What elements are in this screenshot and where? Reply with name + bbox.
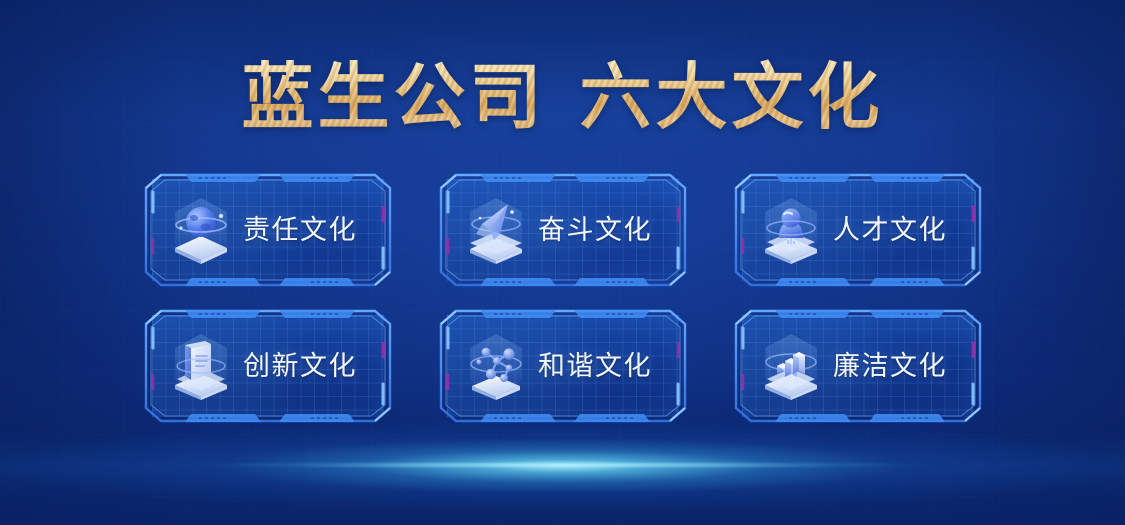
- culture-card[interactable]: 奋斗文化: [438, 172, 688, 288]
- page-title: 蓝生公司六大文化: [0, 52, 1125, 148]
- responsibility-culture-icon: [165, 194, 237, 266]
- culture-card[interactable]: 人才文化: [733, 172, 983, 288]
- integrity-culture-icon: [755, 330, 827, 402]
- culture-card-label: 创新文化: [243, 349, 357, 383]
- culture-card[interactable]: 和谐文化: [438, 308, 688, 424]
- floor-light-core: [183, 462, 943, 469]
- culture-card[interactable]: 创新文化: [143, 308, 393, 424]
- title-part-2: 六大文化: [580, 58, 884, 138]
- culture-card-label: 奋斗文化: [538, 213, 652, 247]
- harmony-culture-icon: [460, 330, 532, 402]
- culture-card-label: 廉洁文化: [833, 349, 947, 383]
- talent-culture-icon: [755, 194, 827, 266]
- culture-card[interactable]: 廉洁文化: [733, 308, 983, 424]
- innovation-culture-icon: [165, 330, 237, 402]
- culture-card-label: 人才文化: [833, 213, 947, 247]
- title-text: 蓝生公司六大文化: [241, 52, 883, 144]
- culture-card-label: 和谐文化: [538, 349, 652, 383]
- culture-card-grid: 责任文化: [143, 172, 983, 424]
- culture-card-label: 责任文化: [243, 213, 357, 247]
- title-part-1: 蓝生公司: [241, 58, 545, 138]
- culture-card[interactable]: 责任文化: [143, 172, 393, 288]
- poster-stage: 蓝生公司六大文化: [0, 0, 1125, 525]
- struggle-culture-icon: [460, 194, 532, 266]
